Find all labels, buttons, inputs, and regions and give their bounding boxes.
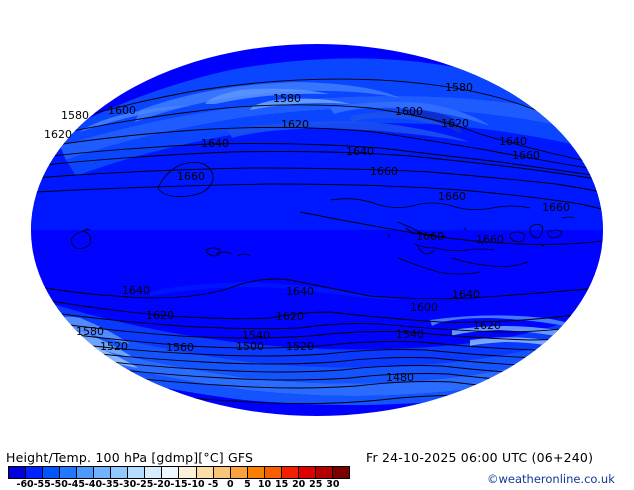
colorbar-cell-11 bbox=[197, 467, 214, 478]
colorbar-cell-1 bbox=[26, 467, 43, 478]
contour-label: 1520 bbox=[286, 340, 314, 353]
contour-label: 1640 bbox=[499, 135, 527, 148]
contour-label: 1600 bbox=[410, 301, 438, 314]
contour-label: 1560 bbox=[166, 341, 194, 354]
colorbar-tick: -50 bbox=[51, 479, 68, 490]
colorbar-tick: 0 bbox=[227, 479, 234, 490]
colorbar-tick: -30 bbox=[119, 479, 136, 490]
colorbar-tick: 20 bbox=[292, 479, 305, 490]
contour-label: 1640 bbox=[122, 284, 150, 297]
colorbar-tick: 5 bbox=[244, 479, 251, 490]
contour-label: 1580 bbox=[445, 81, 473, 94]
colorbar-tick: -5 bbox=[208, 479, 219, 490]
colorbar-cell-0 bbox=[9, 467, 26, 478]
map-footer: Height/Temp. 100 hPa [gdmp][°C] GFS Fr 2… bbox=[0, 440, 634, 490]
contour-label: 1580 bbox=[273, 92, 301, 105]
legend-title: Height/Temp. 100 hPa [gdmp][°C] GFS bbox=[6, 450, 253, 465]
contour-label: 1480 bbox=[386, 371, 414, 384]
colorbar-cell-2 bbox=[43, 467, 60, 478]
colorbar-cell-16 bbox=[282, 467, 299, 478]
contour-label: 1660 bbox=[177, 170, 205, 183]
contour-label: 1540 bbox=[396, 328, 424, 341]
contour-label: 1600 bbox=[108, 104, 136, 117]
colorbar-cell-13 bbox=[231, 467, 248, 478]
colorbar-cell-9 bbox=[162, 467, 179, 478]
colorbar-tick: 15 bbox=[275, 479, 288, 490]
contour-label: 1620 bbox=[276, 310, 304, 323]
colorbar-tick: -15 bbox=[170, 479, 187, 490]
colorbar-cell-7 bbox=[128, 467, 145, 478]
contour-label: 1660 bbox=[416, 230, 444, 243]
colorbar-tick: -35 bbox=[102, 479, 119, 490]
contour-label: 1620 bbox=[473, 319, 501, 332]
contour-label: 1520 bbox=[100, 340, 128, 353]
colorbar-tick: -25 bbox=[136, 479, 153, 490]
map-canvas[interactable]: 1580 1600 1620 1580 1600 1640 1620 1580 … bbox=[0, 0, 634, 440]
colorbar-tick: 25 bbox=[309, 479, 322, 490]
colorbar-tick: -40 bbox=[85, 479, 102, 490]
contour-label: 1640 bbox=[201, 137, 229, 150]
contour-label: 1620 bbox=[146, 309, 174, 322]
colorbar-cell-17 bbox=[299, 467, 316, 478]
colorbar-tick: -10 bbox=[188, 479, 205, 490]
colorbar-cell-8 bbox=[145, 467, 162, 478]
contour-label: 1640 bbox=[286, 285, 314, 298]
colorbar-cell-12 bbox=[214, 467, 231, 478]
colorbar-cell-4 bbox=[77, 467, 94, 478]
contour-label: 1580 bbox=[61, 109, 89, 122]
weather-map-page: 1580 1600 1620 1580 1600 1640 1620 1580 … bbox=[0, 0, 634, 490]
colorbar-cell-3 bbox=[60, 467, 77, 478]
contour-label: 1660 bbox=[438, 190, 466, 203]
run-datetime: Fr 24-10-2025 06:00 UTC (06+240) bbox=[366, 450, 593, 465]
colorbar-cell-10 bbox=[179, 467, 196, 478]
contour-label: 1600 bbox=[395, 105, 423, 118]
colorbar-swatches[interactable] bbox=[8, 466, 350, 479]
colorbar-tick: -45 bbox=[68, 479, 85, 490]
colorbar-cell-5 bbox=[94, 467, 111, 478]
contour-label: 1660 bbox=[370, 165, 398, 178]
global-map-svg[interactable]: 1580 1600 1620 1580 1600 1640 1620 1580 … bbox=[0, 0, 634, 440]
contour-label: 1640 bbox=[452, 288, 480, 301]
colorbar-tick: -20 bbox=[153, 479, 170, 490]
colorbar-cell-14 bbox=[248, 467, 265, 478]
colorbar-tick: -60 bbox=[17, 479, 34, 490]
colorbar-tick: 10 bbox=[258, 479, 271, 490]
colorbar-cell-19 bbox=[333, 467, 349, 478]
colorbar-tick-labels: -60-55-50-45-40-35-30-25-20-15-10-505101… bbox=[8, 479, 350, 490]
contour-label: 1660 bbox=[476, 233, 504, 246]
colorbar-tick: -55 bbox=[34, 479, 51, 490]
contour-label: 1580 bbox=[76, 325, 104, 338]
colorbar-cell-18 bbox=[316, 467, 333, 478]
contour-label: 1640 bbox=[346, 145, 374, 158]
copyright-link[interactable]: ©weatheronline.co.uk bbox=[487, 472, 615, 486]
contour-label: 1660 bbox=[542, 201, 570, 214]
contour-label: 1620 bbox=[281, 118, 309, 131]
colorbar-cell-6 bbox=[111, 467, 128, 478]
contour-label: 1620 bbox=[44, 128, 72, 141]
temperature-colorbar[interactable]: -60-55-50-45-40-35-30-25-20-15-10-505101… bbox=[8, 466, 350, 488]
contour-label: 1500 bbox=[236, 340, 264, 353]
contour-label: 1660 bbox=[512, 149, 540, 162]
colorbar-cell-15 bbox=[265, 467, 282, 478]
contour-label: 1620 bbox=[441, 117, 469, 130]
colorbar-tick: 30 bbox=[326, 479, 339, 490]
